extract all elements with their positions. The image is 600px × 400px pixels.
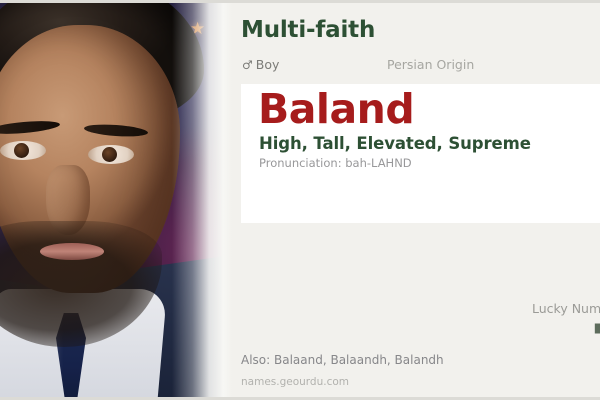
eye-right — [88, 145, 134, 164]
origin-label: Persian Origin — [387, 57, 474, 72]
alternate-spellings: Also: Balaand, Balaandh, Balandh — [241, 353, 444, 367]
gender-label: ♂Boy — [242, 57, 279, 72]
meta-row: ♂Boy Persian Origin — [242, 57, 597, 75]
content-panel: Multi-faith ♂Boy Persian Origin Baland H… — [232, 3, 600, 400]
name-title: Baland — [258, 87, 414, 133]
photo-fade-gradient — [172, 3, 232, 400]
lips — [40, 243, 104, 260]
name-meaning-card: Multi-faith ♂Boy Persian Origin Baland H… — [0, 0, 600, 400]
pronunciation-text: Pronunciation: bah-LAHND — [259, 156, 412, 170]
eye-left — [0, 141, 46, 160]
eyebrow-right — [84, 123, 149, 138]
portrait-image — [0, 3, 232, 400]
website-url: names.geourdu.com — [241, 376, 349, 388]
face — [0, 25, 180, 293]
lucky-number-block: Lucky Number 7 — [532, 301, 600, 316]
eyebrow-left — [0, 119, 60, 136]
name-meanings: High, Tall, Elevated, Supreme — [259, 134, 531, 153]
male-gender-icon: ♂ — [242, 58, 253, 72]
religion-label: Multi-faith — [241, 17, 375, 43]
name-card: Baland High, Tall, Elevated, Supreme Pro… — [241, 84, 600, 223]
gender-text: Boy — [256, 57, 280, 72]
lucky-number-value: 7 — [590, 315, 600, 387]
